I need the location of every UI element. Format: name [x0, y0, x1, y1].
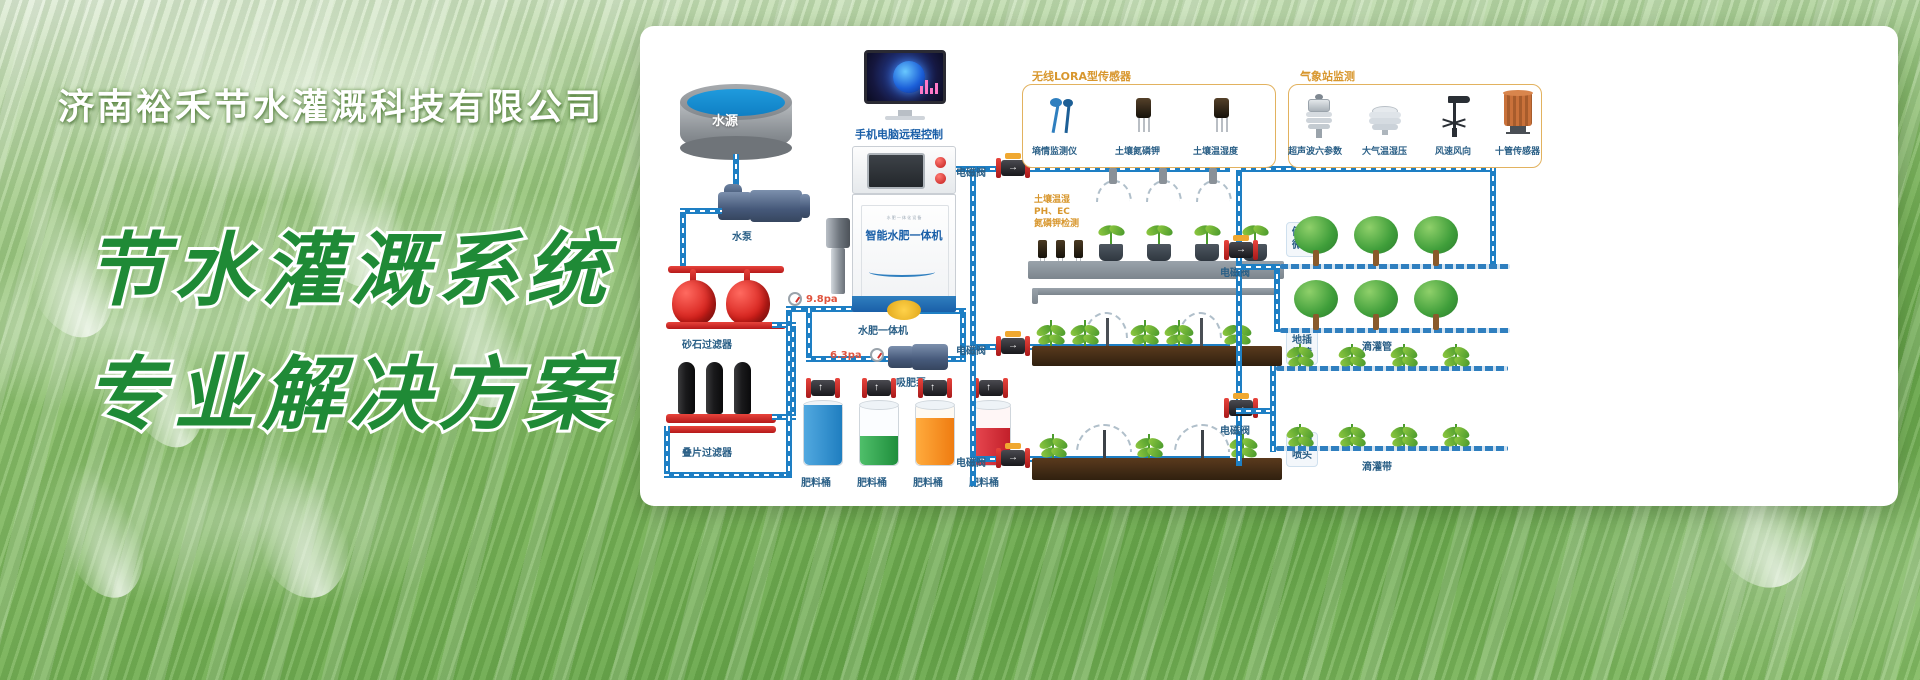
sand-filter-bottom-manifold	[666, 322, 786, 329]
pipe-pump-down	[680, 208, 686, 270]
orchard-tree-3	[1414, 216, 1464, 268]
tank-liquid	[804, 405, 842, 465]
tree-trunk	[1433, 314, 1439, 330]
cabinet-head	[852, 146, 956, 194]
water-pump-tail	[800, 194, 810, 218]
vertical-booster-pump	[826, 218, 852, 298]
veg-plant-1	[1288, 342, 1312, 366]
lora-item-label-2: 土壤氮磷钾	[1115, 144, 1160, 157]
sand-filter-vessel-2	[726, 280, 770, 326]
cabinet-hmi-screen[interactable]	[867, 153, 925, 189]
remote-monitor-screen	[864, 50, 946, 104]
pipe-mainline-bottom	[664, 472, 792, 478]
field-soil-mid	[1032, 346, 1282, 366]
valve-flange-right	[835, 378, 840, 398]
pipe-disc-in	[772, 414, 796, 420]
bench-leg-left	[1032, 288, 1038, 304]
tree-trunk	[1313, 250, 1319, 266]
disc-filter-cyl-2	[706, 362, 723, 414]
greenhouse-bench-shelf	[1032, 288, 1280, 295]
slogan-line-1: 节水灌溉系统	[86, 216, 614, 326]
valve-arrow-icon: →	[1008, 342, 1018, 350]
plant-pot-3	[1195, 244, 1219, 261]
ultrasonic-weather-icon	[1305, 94, 1333, 138]
tree-crown	[1294, 280, 1338, 318]
pipe-machine-out-riser	[970, 166, 976, 486]
soil-sensor-2	[1056, 240, 1065, 258]
fert-valve-4[interactable]: ↑	[974, 378, 1008, 398]
drip-tape-veg-row-1	[1276, 366, 1508, 371]
tank-lid	[859, 400, 899, 410]
solenoid-valve-field-2[interactable]: →	[996, 336, 1030, 356]
fert-valve-1[interactable]: ↑	[806, 378, 840, 398]
tree-trunk	[1313, 314, 1319, 330]
valve-arrow-icon: ↑	[986, 384, 991, 392]
fert-valve-3[interactable]: ↑	[918, 378, 952, 398]
company-name: 济南裕禾节水灌溉科技有限公司	[58, 78, 604, 130]
valve-coil	[1233, 235, 1249, 241]
solenoid-valve-right-1[interactable]: →	[1224, 240, 1258, 260]
field-plant-1	[1038, 318, 1064, 346]
fert-machine-label: 水肥一体机	[858, 322, 908, 337]
anemometer-icon	[1440, 94, 1470, 138]
plant-pot-1	[1099, 244, 1123, 261]
pump-stack	[831, 248, 845, 294]
fertilizer-tank-3	[915, 404, 955, 466]
orchard-tree-1	[1294, 216, 1344, 268]
slogan-line-2: 专业解决方案	[86, 340, 614, 450]
rocker-sprinkler-riser-1	[1103, 430, 1106, 458]
lora-item-label-3: 土壤温湿度	[1193, 144, 1238, 157]
drip-pipe-label: 滴灌管	[1362, 338, 1392, 353]
fertilizer-tank-2	[859, 404, 899, 466]
hanging-mister-2	[1159, 168, 1167, 184]
field-plant-2	[1072, 318, 1098, 346]
orchard-tree-5	[1354, 280, 1404, 332]
sand-filter-label: 砂石过滤器	[682, 336, 732, 351]
tree-trunk	[1433, 250, 1439, 266]
system-diagram-card: 水源 水泵 砂石过滤器 叠片过滤器	[640, 26, 1898, 506]
veg-plant-2	[1340, 342, 1364, 366]
weather-item-label-2: 大气温湿压	[1362, 144, 1407, 157]
chart-bars-graphic	[920, 80, 938, 94]
disc-filter-cyl-1	[678, 362, 695, 414]
field-plant-3	[1132, 318, 1158, 346]
water-pump-body	[718, 192, 752, 220]
rocker-sprinkler-riser-2	[1201, 430, 1204, 458]
valve-coil	[1005, 153, 1021, 159]
hanging-mister-1	[1109, 168, 1117, 184]
pipe-sand-out	[772, 322, 796, 328]
tree-crown	[1354, 280, 1398, 318]
field-plant-4	[1166, 318, 1192, 346]
tank-liquid	[860, 436, 898, 465]
potted-plant-1	[1098, 224, 1124, 246]
npk-sensor-icon	[1134, 98, 1154, 134]
pipe-orchard-feed	[1236, 264, 1280, 270]
tree-crown	[1414, 280, 1458, 318]
valve-flange-right	[891, 378, 896, 398]
suction-pump-body	[888, 346, 914, 368]
bottom-plant-1	[1040, 432, 1066, 458]
pipe-right-trunk	[1236, 166, 1242, 466]
potted-plant-3	[1194, 224, 1220, 246]
pressure-fert-label: 6.3pa	[830, 350, 862, 361]
orchard-tree-6	[1414, 280, 1464, 332]
valve-coil	[1233, 393, 1249, 399]
valve-flange-right	[1253, 240, 1258, 260]
pipe-mainline-up	[786, 306, 792, 476]
pipe-fert-riser	[806, 308, 812, 360]
tree-crown	[1354, 216, 1398, 254]
tree-trunk	[1373, 250, 1379, 266]
cabinet-button-top[interactable]	[935, 157, 946, 168]
cabinet-body: 水 肥 一 体 化 设 备 智能水肥一体机	[852, 194, 956, 312]
fertilizer-tank-label-2: 肥料桶	[857, 474, 887, 489]
valve-arrow-icon: →	[1236, 246, 1246, 254]
tank-lid	[915, 400, 955, 410]
suction-pump-motor	[912, 344, 948, 370]
weather-group-title: 气象站监测	[1300, 68, 1355, 84]
micro-spray-riser-1	[1106, 318, 1109, 346]
solenoid-valve-label-3: 电磁阀	[956, 454, 986, 469]
fertilizer-tank-label-1: 肥料桶	[801, 474, 831, 489]
temp-humidity-sensor-icon	[1212, 98, 1232, 134]
fertilizer-tank-label-3: 肥料桶	[913, 474, 943, 489]
pipe-veg-connector	[1270, 366, 1276, 452]
veg-plant-7	[1392, 422, 1416, 446]
barometer-icon	[1368, 106, 1402, 134]
sand-filter-top-manifold	[668, 266, 784, 273]
promo-banner: 济南裕禾节水灌溉科技有限公司 节水灌溉系统 专业解决方案 水源 水泵 砂石	[0, 0, 1920, 680]
pressure-gauge-fert	[870, 348, 884, 362]
potted-plant-2	[1146, 224, 1172, 246]
water-source-label: 水源	[712, 110, 738, 129]
soil-probe-icon	[1048, 98, 1082, 134]
valve-body	[867, 380, 891, 396]
valve-arrow-icon: ↑	[874, 384, 879, 392]
tree-crown	[1294, 216, 1338, 254]
disc-filter-cyl-3	[734, 362, 751, 414]
valve-body	[979, 380, 1003, 396]
bottom-plant-2	[1136, 432, 1162, 458]
hanging-mister-3	[1209, 168, 1217, 184]
disc-filter-label: 叠片过滤器	[682, 444, 732, 459]
cabinet-brand-label: 智能水肥一体机	[853, 227, 955, 243]
pipe-orchard-connector	[1274, 264, 1280, 332]
cabinet-button-bottom[interactable]	[935, 173, 946, 184]
solenoid-valve-field-3[interactable]: →	[996, 448, 1030, 468]
cabinet-logo-badge	[887, 300, 921, 320]
valve-coil	[1005, 331, 1021, 337]
valve-flange-right	[947, 378, 952, 398]
cabinet-subtitle: 水 肥 一 体 化 设 备	[853, 215, 955, 221]
soil-sensor-3	[1074, 240, 1083, 258]
veg-plant-6	[1340, 422, 1364, 446]
tank-liquid	[916, 418, 954, 465]
weather-item-label-1: 超声波六参数	[1288, 144, 1342, 157]
pressure-gauge-main	[788, 292, 802, 306]
disc-filter-manifold-2	[666, 426, 776, 433]
field-soil-bottom	[1032, 458, 1282, 480]
tree-trunk	[1373, 314, 1379, 330]
veg-plant-8	[1444, 422, 1468, 446]
pipe-disc-down	[664, 426, 670, 478]
monitor-foot	[885, 116, 925, 120]
veg-plant-5	[1288, 422, 1312, 446]
fertilizer-tank-1	[803, 404, 843, 466]
valve-arrow-icon: ↑	[930, 384, 935, 392]
cabinet-decor-curve	[869, 267, 935, 277]
solenoid-valve-label-5: 电磁阀	[1220, 422, 1250, 437]
weather-item-label-3: 风速风向	[1435, 144, 1471, 157]
solenoid-valve-label-1: 电磁阀	[956, 164, 986, 179]
tree-crown	[1414, 216, 1458, 254]
valve-arrow-icon: →	[1008, 164, 1018, 172]
headline-block: 济南裕禾节水灌溉科技有限公司 节水灌溉系统 专业解决方案	[0, 0, 640, 680]
valve-arrow-icon: ↑	[818, 384, 823, 392]
valve-arrow-icon: →	[1008, 454, 1018, 462]
soil-sensor-1	[1038, 240, 1047, 258]
weather-item-label-4: 十管传感器	[1495, 144, 1540, 157]
fert-valve-2[interactable]: ↑	[862, 378, 896, 398]
micro-spray-riser-2	[1200, 318, 1203, 346]
lora-item-label-1: 墒情监测仪	[1032, 144, 1077, 157]
lora-group-title: 无线LORA型传感器	[1032, 68, 1131, 84]
orchard-tree-2	[1354, 216, 1404, 268]
drip-tape-label: 滴灌带	[1362, 458, 1392, 473]
disc-filter-manifold-1	[666, 414, 776, 423]
orchard-tree-4	[1294, 280, 1344, 332]
valve-body	[923, 380, 947, 396]
valve-flange-right	[1003, 378, 1008, 398]
tank-lid	[971, 400, 1011, 410]
drip-tape-veg-row-2	[1276, 446, 1508, 451]
veg-plant-3	[1392, 342, 1416, 366]
fertigation-cabinet: 水 肥 一 体 化 设 备 智能水肥一体机	[852, 146, 956, 316]
pipe-pump-left	[680, 208, 722, 214]
sand-filter-vessel-1	[672, 280, 716, 326]
water-pump-motor	[750, 190, 802, 222]
water-pump-label: 水泵	[732, 228, 752, 243]
valve-coil	[1005, 443, 1021, 449]
remote-control-label: 手机电脑远程控制	[855, 126, 943, 142]
pipe-orchard-riser	[1490, 166, 1496, 266]
plant-pot-2	[1147, 244, 1171, 261]
valve-body	[811, 380, 835, 396]
pump-motor	[826, 218, 850, 248]
soil-detect-note: 土壤温湿 PH、EC 氮磷钾检测	[1034, 194, 1079, 230]
rain-gauge-icon	[1502, 92, 1534, 138]
veg-plant-4	[1444, 342, 1468, 366]
solenoid-valve-label-2: 电磁阀	[956, 342, 986, 357]
